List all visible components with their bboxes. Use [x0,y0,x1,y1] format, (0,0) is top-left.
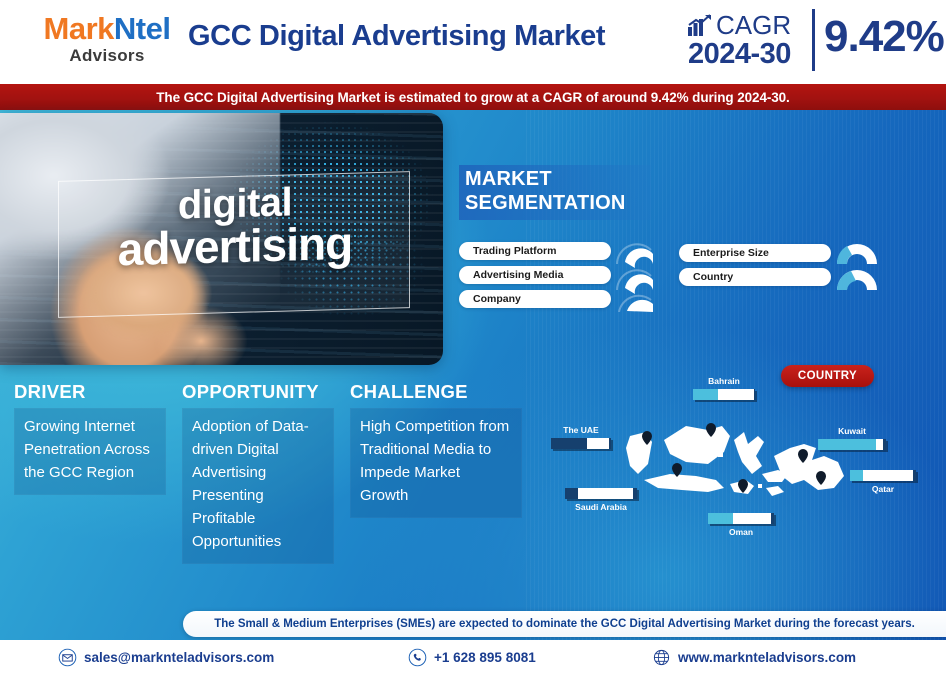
sme-banner: The Small & Medium Enterprises (SMEs) ar… [183,611,946,637]
opportunity-text: Adoption of Data-driven Digital Advertis… [182,408,334,564]
segmentation-column-right: Enterprise Size Country [679,244,831,292]
segment-company[interactable]: Company [459,290,611,308]
logo-tagline: Advisors [22,47,192,64]
country-bar-qatar [850,470,916,481]
analysis-column-challenge: CHALLENGE High Competition from Traditio… [350,381,522,518]
segmentation-title-line2: SEGMENTATION [465,192,626,214]
page-title: GCC Digital Advertising Market [188,20,663,53]
analysis-column-driver: DRIVER Growing Internet Penetration Acro… [14,381,166,495]
segmentation-column-left: Trading Platform Advertising Media Compa… [459,242,611,314]
segment-enterprise-size[interactable]: Enterprise Size [679,244,831,262]
challenge-heading: CHALLENGE [350,381,522,403]
country-label-saudi: Saudi Arabia [565,502,637,512]
segment-advertising-media[interactable]: Advertising Media [459,266,611,284]
opportunity-heading: OPPORTUNITY [182,381,334,403]
footer-website-text: www.marknteladvisors.com [678,650,856,665]
cagr-value: 9.42% [824,12,944,62]
driver-heading: DRIVER [14,381,166,403]
footer-phone[interactable]: +1 628 895 8081 [408,646,536,668]
country-bar-kuwait [818,439,886,450]
company-logo[interactable]: MarkNtel Advisors [22,13,192,71]
segment-country[interactable]: Country [679,268,831,286]
challenge-text: High Competition from Traditional Media … [350,408,522,518]
cagr-block: CAGR 2024-30 [688,8,818,74]
hero-word-advertising: advertising [60,220,410,273]
country-badge: COUNTRY [781,365,874,387]
country-label-oman: Oman [708,527,774,537]
envelope-icon [58,648,77,667]
segmentation-title-line1: MARKET [465,168,552,190]
bar-chart-growth-icon [688,14,714,36]
segmentation-arc-decoration-right [835,240,879,292]
analysis-column-opportunity: OPPORTUNITY Adoption of Data-driven Digi… [182,381,334,564]
infographic-page: MarkNtel Advisors GCC Digital Advertisin… [0,0,946,674]
segmentation-title: MARKET SEGMENTATION [459,165,651,220]
phone-icon [408,648,427,667]
country-bar-oman [708,513,774,524]
country-label-bahrain: Bahrain [693,376,755,386]
hero-caption: digital advertising [60,180,410,315]
logo-text-mark: Mark [44,11,114,46]
cagr-divider [812,9,815,71]
footer-phone-text: +1 628 895 8081 [434,650,536,665]
globe-icon [652,648,671,667]
country-label-kuwait: Kuwait [818,426,886,436]
headline-banner: The GCC Digital Advertising Market is es… [0,84,946,110]
footer-email[interactable]: sales@marknteladvisors.com [58,646,274,668]
logo-text-ntel: Ntel [114,11,171,46]
country-stat-kuwait: Kuwait [818,426,886,450]
country-stat-oman: Oman [708,513,774,537]
country-bar-saudi [565,488,637,499]
segmentation-arc-decoration-left [613,238,659,312]
hero-image: digital advertising [0,113,443,365]
footer-website[interactable]: www.marknteladvisors.com [652,646,856,668]
country-label-qatar: Qatar [850,484,916,494]
driver-text: Growing Internet Penetration Across the … [14,408,166,495]
cagr-label: CAGR [716,10,791,41]
footer-email-text: sales@marknteladvisors.com [84,650,274,665]
country-bar-bahrain [693,389,755,400]
country-stat-qatar: Qatar [850,470,916,494]
country-label-uae: The UAE [551,425,611,435]
cagr-years: 2024-30 [688,38,791,71]
country-bar-uae [551,438,611,449]
footer-bar: sales@marknteladvisors.com +1 628 895 80… [0,640,946,674]
country-stat-bahrain: Bahrain [693,376,755,400]
header-bar: MarkNtel Advisors GCC Digital Advertisin… [0,0,946,84]
country-stat-uae: The UAE [551,425,611,449]
segment-trading-platform[interactable]: Trading Platform [459,242,611,260]
country-stat-saudi: Saudi Arabia [565,488,637,512]
